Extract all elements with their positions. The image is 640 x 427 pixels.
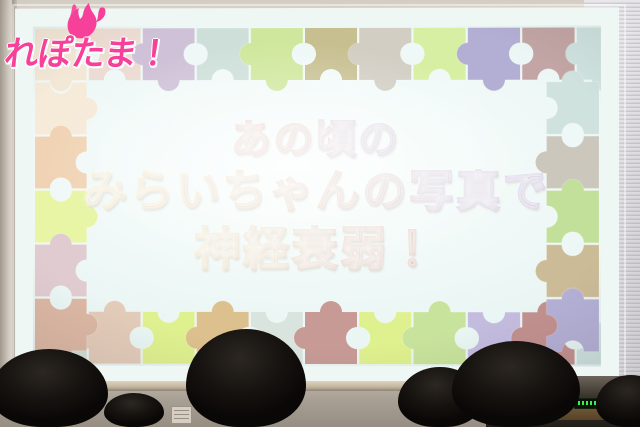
puzzle-piece — [348, 28, 411, 91]
puzzle-piece — [547, 180, 599, 243]
program-logo: れぽたま！ — [3, 4, 155, 70]
puzzle-piece — [35, 234, 87, 297]
puzzle-piece — [240, 28, 303, 91]
puzzle-piece — [402, 301, 465, 364]
puzzle-piece — [457, 28, 520, 91]
program-logo-text: れぽたま！ — [2, 26, 174, 75]
puzzle-piece — [547, 71, 599, 134]
screenshot-root: あの頃の みらいちゃんの写真で 神経衰弱！ れぽたま！ — [0, 0, 640, 427]
puzzle-border-svg — [33, 25, 601, 366]
puzzle-border — [33, 25, 601, 366]
puzzle-piece — [35, 126, 87, 189]
puzzle-piece — [294, 301, 357, 364]
presentation-slide: あの頃の みらいちゃんの写真で 神経衰弱！ — [33, 25, 601, 366]
light-switch-plate — [171, 406, 192, 424]
audience-head-silhouette — [104, 393, 164, 427]
